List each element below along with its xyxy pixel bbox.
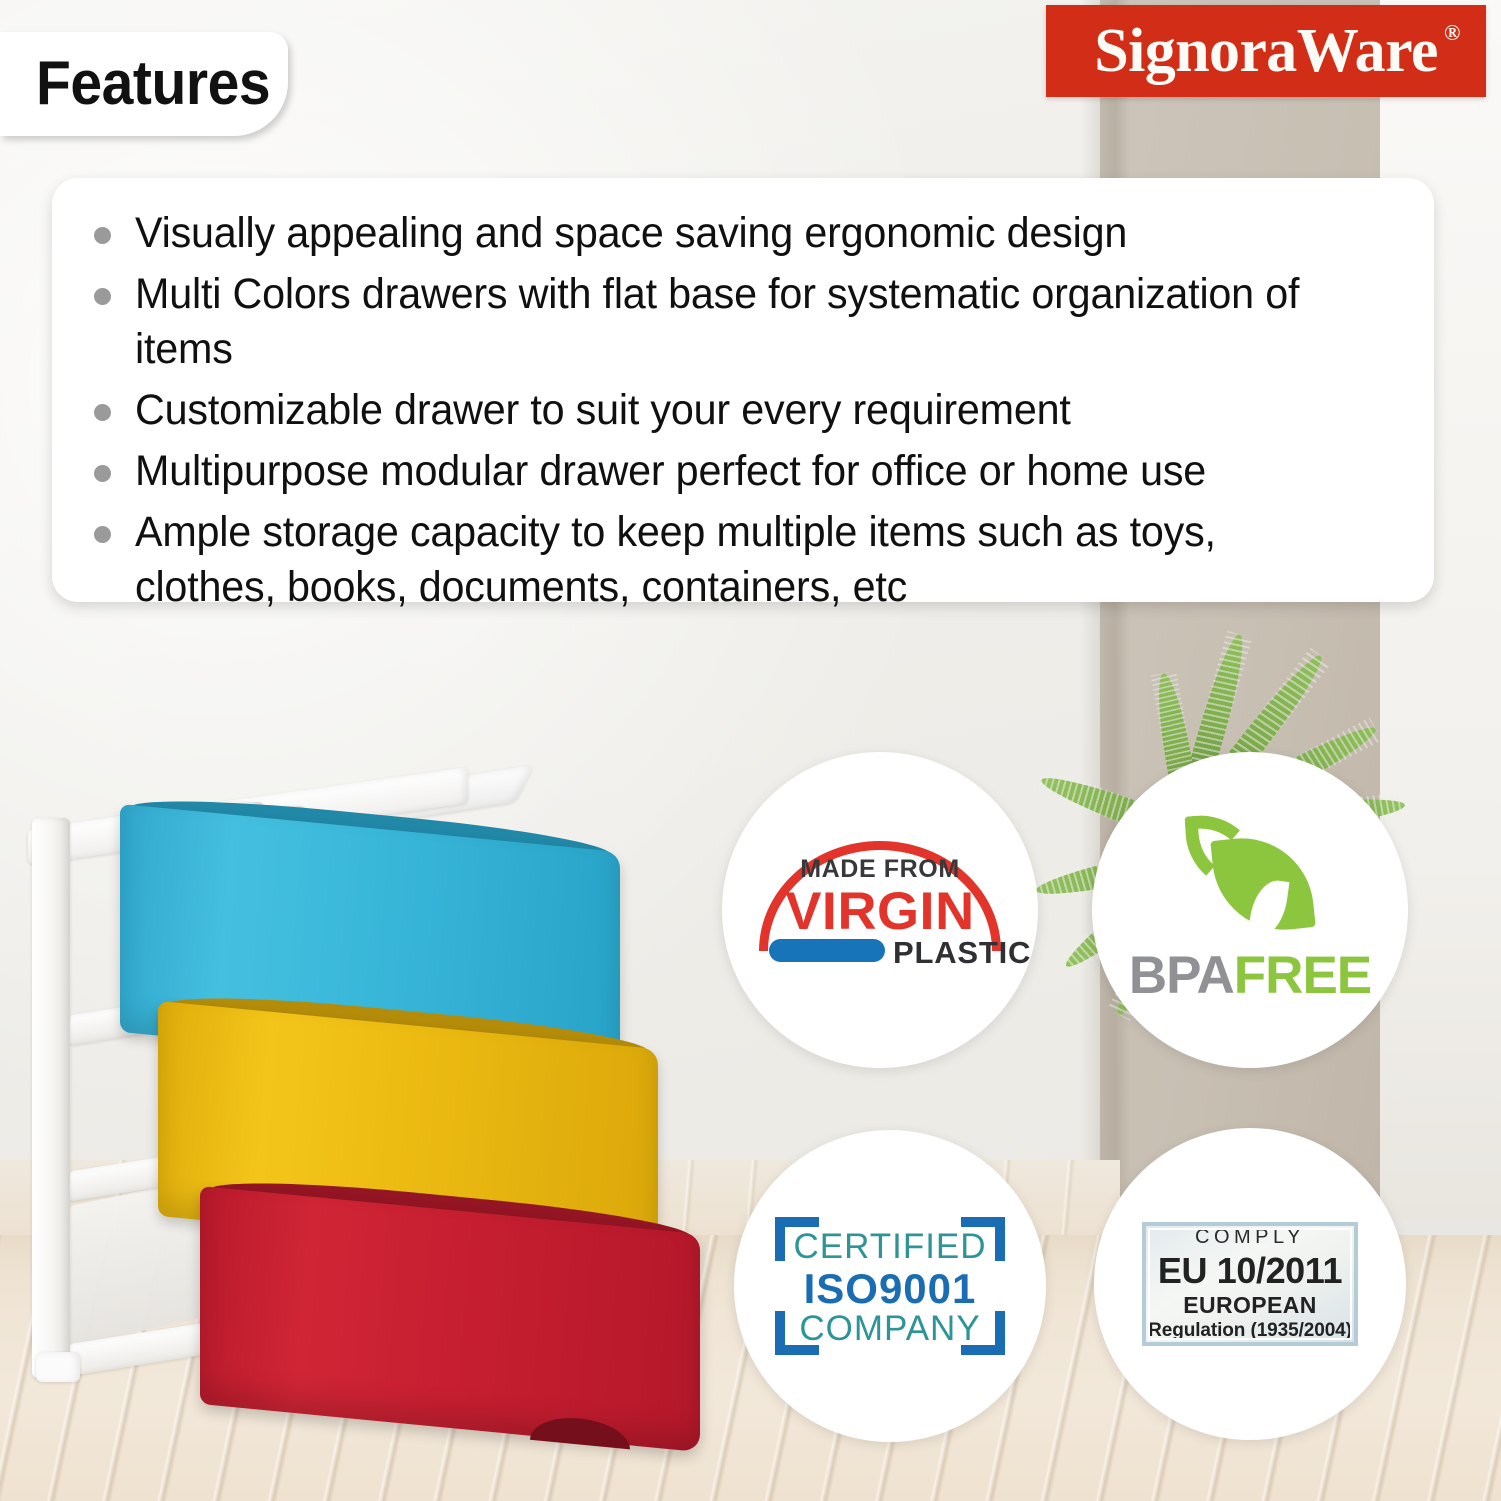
badge-part-one: BPA	[1129, 946, 1234, 1005]
brand-name: SignoraWare	[1094, 17, 1438, 85]
virgin-plastic-icon: MADE FROM VIRGIN PLASTIC	[751, 835, 1009, 985]
badge-bpa-free: BPAFREE	[1092, 752, 1408, 1068]
bullet-icon	[94, 526, 111, 543]
badge-line-bottom: COMPANY	[775, 1309, 1005, 1349]
drawer-red	[200, 1186, 700, 1452]
product-feature-banner: Features SignoraWare ® Visually appealin…	[0, 0, 1501, 1501]
bullet-icon	[94, 288, 111, 305]
features-card: Visually appealing and space saving ergo…	[52, 178, 1434, 602]
iso-bracket-frame-icon: CERTIFIED ISO9001 COMPANY	[775, 1217, 1005, 1355]
badge-line-bottom: PLASTIC	[893, 935, 1031, 971]
list-item: Multi Colors drawers with flat base for …	[94, 267, 1394, 377]
features-list: Visually appealing and space saving ergo…	[94, 206, 1394, 615]
badge-line-top: CERTIFIED	[775, 1227, 1005, 1267]
list-item: Ample storage capacity to keep multiple …	[94, 505, 1394, 615]
badge-eu-compliance: COMPLY EU 10/2011 EUROPEAN Regulation (1…	[1094, 1128, 1406, 1440]
badge-line-2: EU 10/2011	[1158, 1250, 1342, 1292]
badge-line-4: Regulation (1935/2004)	[1148, 1320, 1352, 1342]
feature-text: Visually appealing and space saving ergo…	[135, 206, 1127, 261]
brand-logo-text: SignoraWare ®	[1094, 20, 1438, 82]
virgin-bar-icon	[769, 939, 885, 962]
badge-made-from-virgin-plastic: MADE FROM VIRGIN PLASTIC	[722, 752, 1038, 1068]
feature-text: Ample storage capacity to keep multiple …	[135, 505, 1344, 615]
feature-text: Multipurpose modular drawer perfect for …	[135, 444, 1206, 499]
badge-label: BPAFREE	[1129, 945, 1371, 1006]
feature-text: Multi Colors drawers with flat base for …	[135, 267, 1344, 377]
list-item: Multipurpose modular drawer perfect for …	[94, 444, 1394, 499]
bullet-icon	[94, 465, 111, 482]
badge-line-top: MADE FROM	[751, 855, 1009, 884]
registered-trademark-icon: ®	[1444, 22, 1460, 44]
bullet-icon	[94, 227, 111, 244]
list-item: Customizable drawer to suit your every r…	[94, 383, 1394, 438]
badge-part-two: FREE	[1234, 946, 1371, 1005]
eu-plate: COMPLY EU 10/2011 EUROPEAN Regulation (1…	[1142, 1222, 1358, 1346]
badge-line-main: ISO9001	[775, 1265, 1005, 1313]
features-heading-tab: Features	[0, 32, 288, 136]
badge-line-main: VIRGIN	[748, 881, 1011, 942]
badge-iso-9001-certified: CERTIFIED ISO9001 COMPANY	[734, 1130, 1046, 1442]
badge-line-1: COMPLY	[1195, 1226, 1305, 1249]
frame-foot	[36, 1352, 80, 1382]
leaf-small-shape	[1184, 812, 1261, 895]
frame-post-left	[32, 818, 70, 1378]
leaf-icon	[1175, 814, 1325, 939]
bullet-icon	[94, 404, 111, 421]
list-item: Visually appealing and space saving ergo…	[94, 206, 1394, 261]
product-image-storage-drawers	[10, 770, 710, 1430]
feature-text: Customizable drawer to suit your every r…	[135, 383, 1071, 438]
page-title: Features	[36, 53, 270, 115]
brand-logo: SignoraWare ®	[1046, 5, 1486, 97]
badge-line-3: EUROPEAN	[1183, 1292, 1317, 1319]
